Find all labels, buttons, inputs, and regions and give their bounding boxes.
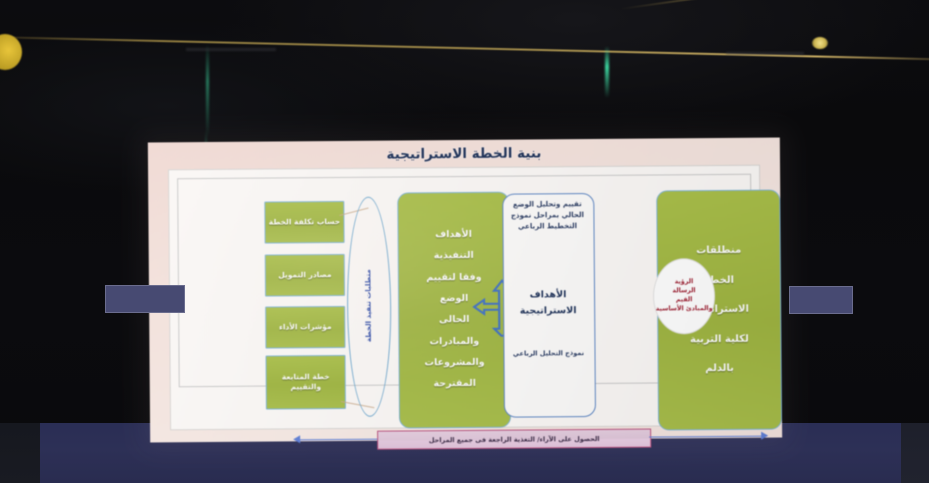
yellow-glow-icon	[812, 37, 828, 49]
middle-box-center-text: الأهداف الاستراتيجية	[506, 287, 590, 320]
screen-right-mount-tab	[789, 286, 853, 314]
middle-box-bottom-text: نموذج التحليل الرباعي	[506, 349, 590, 359]
dim-ceiling-bar	[186, 48, 276, 51]
green-light-streak	[605, 46, 609, 98]
right-line-1: منطلقات	[696, 244, 741, 258]
oval-line-vision: الرؤية	[656, 278, 713, 287]
oval-line-values: القيم	[656, 296, 713, 305]
right-line-5: بالدلم	[705, 362, 734, 376]
left-box-funding-sources[interactable]: مصادر التمويل	[265, 254, 345, 297]
oval-line-mission: الرسالة	[656, 287, 713, 296]
center-line-2: التنفيذية	[434, 250, 474, 263]
photograph-of-projection-screen: بنية الخطة الاستراتيجية حساب تكلفة الخطة…	[0, 0, 929, 483]
center-line-5: الحالى	[439, 314, 470, 327]
left-ellipse-label: متطلبات تنفيذ الخطة	[364, 269, 373, 342]
feedback-arrow-line-right	[649, 436, 767, 438]
middle-box-top-text: تقييم وتحليل الوضع الحالي بمراحل نموذج ا…	[505, 199, 589, 232]
center-line-6: والمبادرات	[429, 335, 479, 348]
center-line-4: الوضع	[440, 293, 469, 306]
strategic-goals-line-1: الأهداف	[506, 287, 590, 304]
projected-slide: بنية الخطة الاستراتيجية حساب تكلفة الخطة…	[148, 138, 782, 443]
right-line-4: لكلية التربية	[690, 333, 749, 347]
left-box-plan-cost[interactable]: حساب تكلفة الخطة	[264, 201, 344, 244]
left-box-monitoring-evaluation-plan[interactable]: خطة المتابعة والتقييم	[266, 355, 346, 410]
vision-mission-values-oval[interactable]: الرؤية الرسالة القيم والمبادئ الأساسية	[653, 258, 716, 334]
dim-ceiling-bar	[726, 52, 804, 55]
left-box-performance-indicators[interactable]: مؤشرات الأداء	[265, 306, 345, 349]
oval-text-wrap: الرؤية الرسالة القيم والمبادئ الأساسية	[656, 278, 713, 314]
left-ellipse-label-wrap: متطلبات تنفيذ الخطة	[346, 197, 390, 415]
center-line-8: المقترحة	[433, 378, 476, 391]
slide-inner-panel: حساب تكلفة الخطة مصادر التمويل مؤشرات ال…	[168, 165, 762, 431]
oval-line-principles: والمبادئ الأساسية	[656, 305, 713, 314]
center-line-1: الأهداف	[435, 229, 472, 242]
page-title: بنية الخطة الاستراتيجية	[148, 144, 780, 165]
feedback-arrowhead-left	[293, 435, 300, 443]
feedback-bar[interactable]: الحصول على الآراء/ التغذية الراجعة فى جم…	[377, 429, 651, 450]
feedback-arrowhead-right	[761, 432, 768, 440]
screen-left-mount-tab	[105, 285, 185, 313]
room-floor-right-shadow	[901, 423, 929, 483]
green-light-streak	[206, 44, 209, 138]
center-line-7: والمشروعات	[424, 357, 484, 370]
strategic-goals-line-2: الاستراتيجية	[506, 303, 590, 320]
feedback-arrow-line-left	[299, 439, 377, 441]
room-floor-left-shadow	[0, 423, 40, 483]
